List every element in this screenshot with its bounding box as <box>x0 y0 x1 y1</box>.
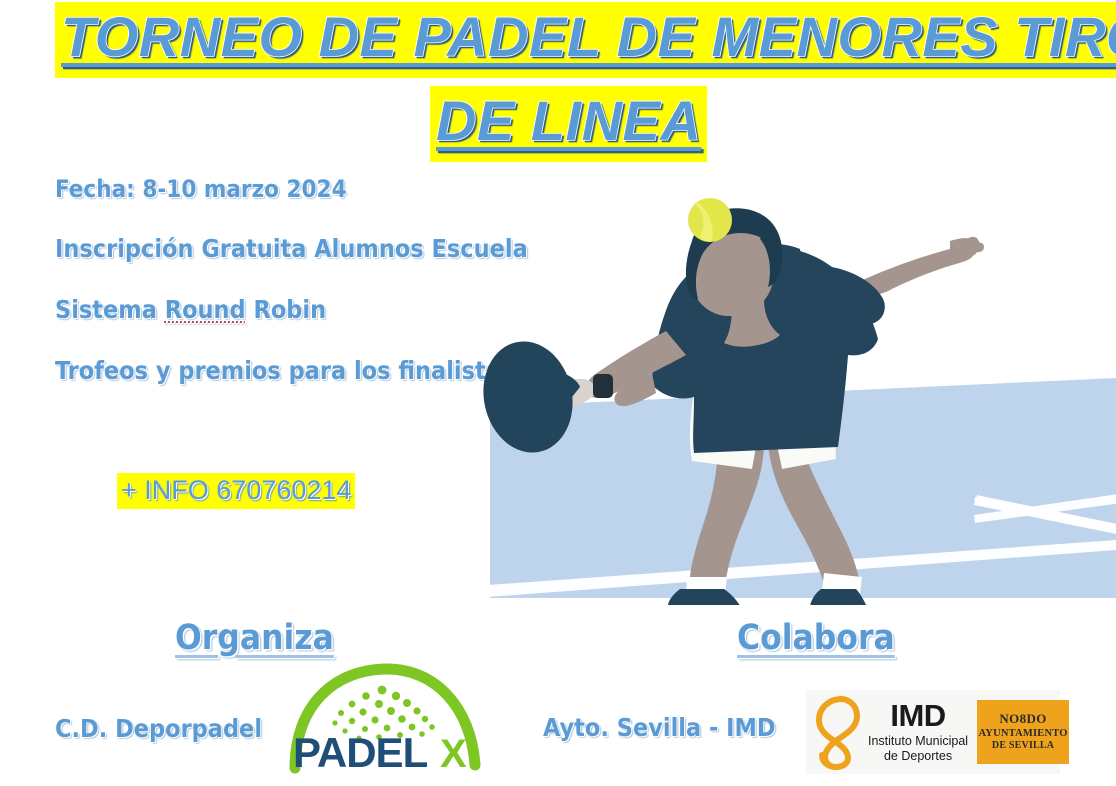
imd-name: Instituto Municipal de Deportes <box>868 734 968 764</box>
info-sistema-spellchecked: Round <box>165 295 246 324</box>
nodo-badge-line3: DE SEVILLA <box>992 740 1054 752</box>
imd-name-line1: Instituto Municipal <box>868 734 968 749</box>
padelx-x-letter: X <box>440 732 467 776</box>
title-line-1: TORNEO DE PADEL DE MENORES TIRO <box>55 2 1061 94</box>
colabora-entity-name: Ayto. Sevilla - IMD <box>543 713 776 742</box>
padelx-wordmark-text: PADEL <box>293 729 428 776</box>
info-sistema-before: Sistema <box>55 295 165 324</box>
info-line-fecha: Fecha: 8-10 marzo 2024 <box>55 175 347 203</box>
poster-root: TORNEO DE PADEL DE MENORES TIRO DE LINEA… <box>0 0 1116 786</box>
padelx-x-text: X <box>440 732 467 776</box>
nodo-badge: NO8DO AYUNTAMIENTO DE SEVILLA <box>977 700 1069 764</box>
imd-name-line2: de Deportes <box>868 749 968 764</box>
imd-lazo-icon <box>812 693 862 771</box>
heading-organiza: Organiza <box>175 618 334 658</box>
info-line-inscripcion: Inscripción Gratuita Alumnos Escuela <box>55 234 528 263</box>
organiza-entity-name: C.D. Deporpadel <box>55 714 262 743</box>
nodo-badge-line2: AYUNTAMIENTO <box>978 728 1067 741</box>
imd-logo: IMD Instituto Municipal de Deportes NO8D… <box>806 690 1060 774</box>
padelx-logo: PADEL X <box>283 663 498 778</box>
player-back-arm <box>856 237 984 295</box>
title-line-2: DE LINEA <box>430 86 686 178</box>
more-info-phone: + INFO 670760214 <box>117 473 355 509</box>
nodo-badge-line1: NO8DO <box>999 712 1047 726</box>
padel-ball <box>688 198 732 242</box>
title-line-1-text: TORNEO DE PADEL DE MENORES TIRO <box>55 2 1116 78</box>
padelx-wordmark: PADEL <box>293 729 428 776</box>
heading-colabora: Colabora <box>737 618 895 658</box>
padel-player-illustration <box>480 185 1116 605</box>
imd-text-block: IMD Instituto Municipal de Deportes <box>868 700 968 764</box>
info-line-trofeos: Trofeos y premios para los finalistas <box>55 356 514 385</box>
imd-acronym: IMD <box>868 700 968 731</box>
info-line-sistema: Sistema Round Robin <box>55 295 326 324</box>
info-sistema-after: Robin <box>246 295 326 324</box>
title-line-2-text: DE LINEA <box>430 86 707 162</box>
player-wristwatch <box>593 374 613 398</box>
